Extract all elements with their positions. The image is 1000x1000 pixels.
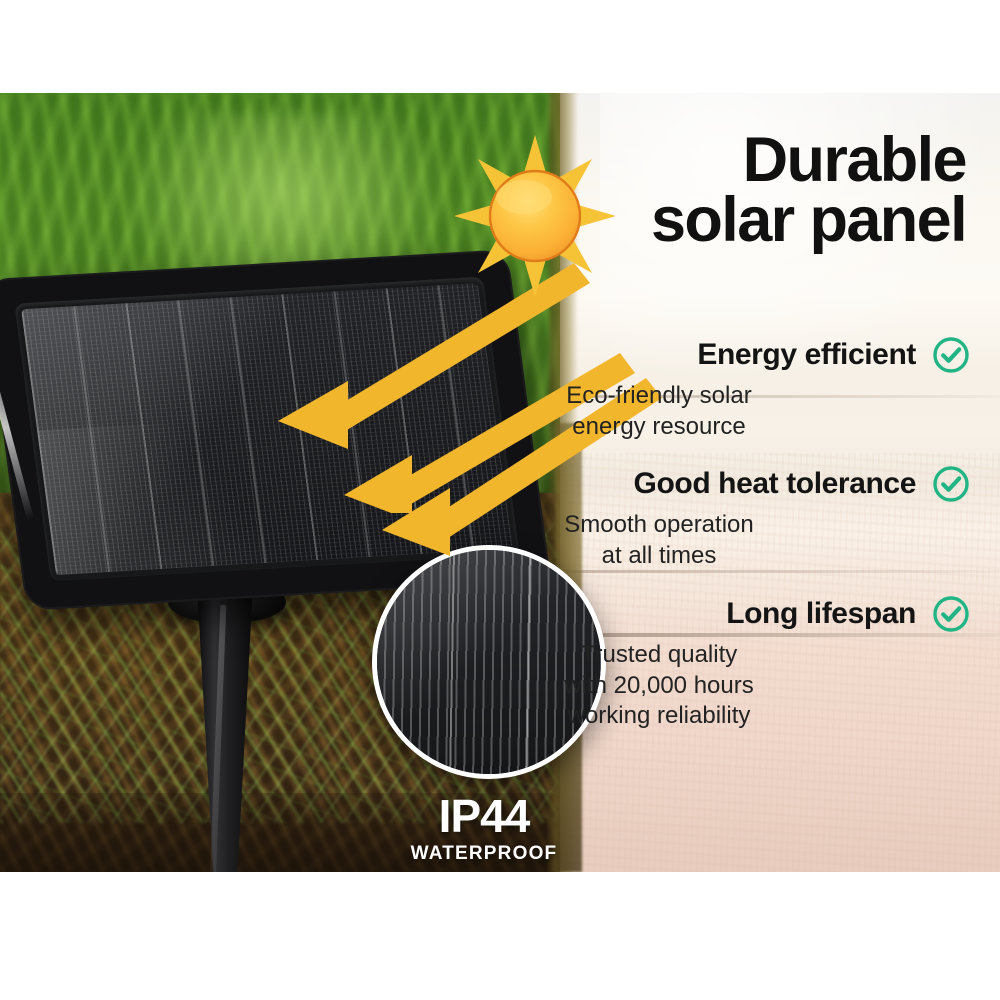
feature-subtitle-line: Smooth operation <box>410 510 908 541</box>
check-circle-icon <box>932 595 970 633</box>
feature-subtitle-line: Eco-friendly solar <box>410 381 908 412</box>
feature-subtitle: Trusted quality with 20,000 hours workin… <box>410 640 970 732</box>
feature-item-energy-efficient: Energy efficient Eco-friendly solar ener… <box>410 336 970 442</box>
waterproof-label: WATERPROOF <box>378 843 590 865</box>
feature-header: Good heat tolerance <box>410 465 970 503</box>
feature-header: Energy efficient <box>410 336 970 374</box>
top-white-band <box>0 0 1000 93</box>
bottom-white-band <box>0 872 1000 1000</box>
feature-subtitle: Eco-friendly solar energy resource <box>410 381 970 442</box>
ip44-waterproof-badge: IP44 WATERPROOF <box>378 793 590 865</box>
product-marketing-image: IP44 WATERPROOF <box>0 0 1000 1000</box>
heading-line-2: solar panel <box>346 190 966 250</box>
feature-subtitle-line: Trusted quality <box>410 640 908 671</box>
feature-title: Good heat tolerance <box>634 467 916 501</box>
page-title: Durable solar panel <box>346 130 966 251</box>
feature-subtitle-line: energy resource <box>410 412 908 443</box>
ip44-rating-label: IP44 <box>378 793 590 839</box>
feature-subtitle: Smooth operation at all times <box>410 510 970 571</box>
feature-header: Long lifespan <box>410 595 970 633</box>
check-circle-icon <box>932 336 970 374</box>
feature-title: Energy efficient <box>697 338 916 372</box>
feature-subtitle-line: working reliability <box>410 701 908 732</box>
feature-subtitle-line: at all times <box>410 541 908 572</box>
feature-subtitle-line: with 20,000 hours <box>410 671 908 702</box>
feature-item-long-lifespan: Long lifespan Trusted quality with 20,00… <box>410 595 970 732</box>
feature-title: Long lifespan <box>726 597 916 631</box>
feature-item-good-heat-tolerance: Good heat tolerance Smooth operation at … <box>410 465 970 571</box>
feature-list: Energy efficient Eco-friendly solar ener… <box>410 336 970 755</box>
check-circle-icon <box>932 465 970 503</box>
